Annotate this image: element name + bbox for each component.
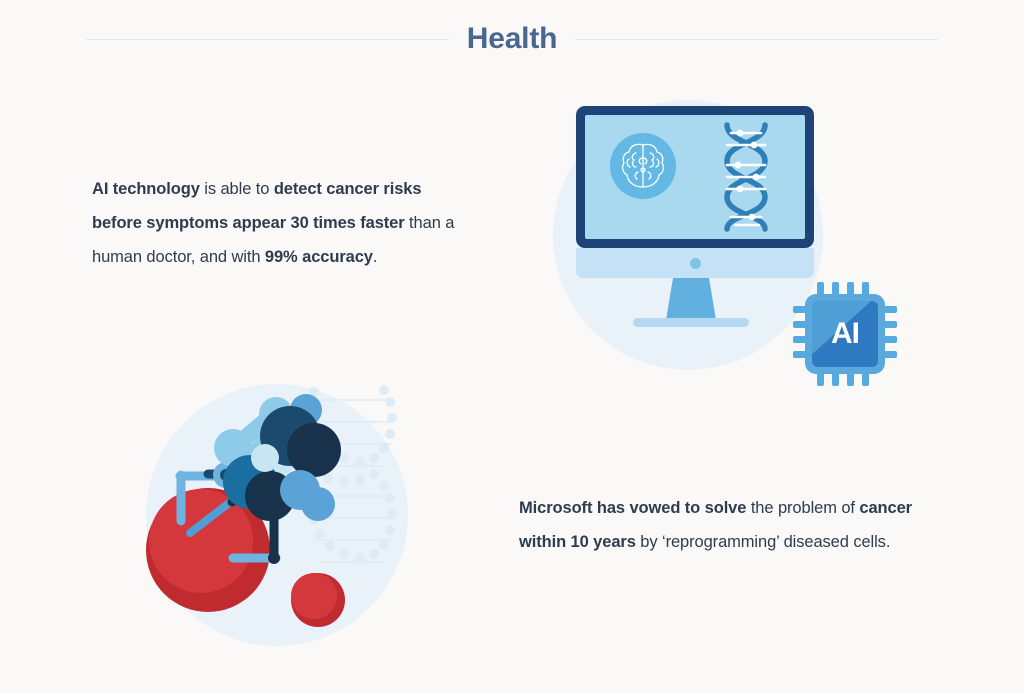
header-rule-right — [575, 39, 938, 40]
dna-helix-icon — [713, 121, 779, 238]
monitor-screen — [585, 115, 805, 239]
chip-label: AI — [831, 319, 859, 349]
monitor-bezel — [576, 106, 814, 248]
nanobot-molecule-illustration — [128, 378, 440, 646]
paragraph-top-segment-5: . — [373, 248, 377, 266]
monitor-chin-bar — [576, 248, 814, 278]
section-header: Health — [86, 22, 938, 56]
monitor-base — [633, 318, 749, 327]
paragraph-top-segment-1: is able to — [200, 180, 274, 198]
header-rule-left — [86, 39, 449, 40]
paragraph-bottom-segment-1: the problem of — [746, 499, 859, 517]
monitor-stand — [666, 278, 716, 320]
red-cell-small — [291, 573, 345, 627]
paragraph-bottom-segment-0: Microsoft has vowed to solve — [519, 499, 746, 517]
brain-icon — [610, 133, 676, 199]
chip-body: AI — [805, 294, 885, 374]
monitor-power-dot-icon — [690, 258, 701, 269]
paragraph-ai-detection: AI technology is able to detect cancer r… — [92, 172, 468, 274]
chip-core: AI — [812, 301, 878, 367]
molecule-scene-graphic — [128, 378, 440, 646]
paragraph-microsoft-cancer: Microsoft has vowed to solve the problem… — [519, 491, 931, 559]
paragraph-bottom-segment-3: by ‘reprogramming’ diseased cells. — [636, 533, 891, 551]
paragraph-top-segment-0: AI technology — [92, 180, 200, 198]
ai-chip-illustration: AI — [791, 280, 899, 388]
molecule-cluster — [214, 394, 341, 521]
paragraph-top-segment-4: 99% accuracy — [265, 248, 373, 266]
page-title: Health — [467, 22, 558, 56]
